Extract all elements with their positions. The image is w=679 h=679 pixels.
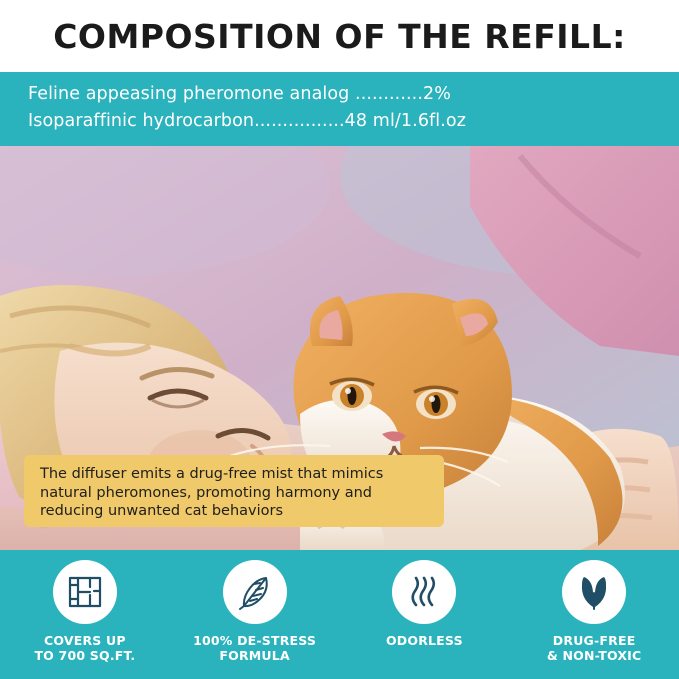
scent-waves-icon <box>405 573 443 611</box>
feature-destress: 100% DE-STRESS FORMULA <box>180 560 330 663</box>
caption-text: The diffuser emits a drug-free mist that… <box>40 465 428 521</box>
feature-coverage: COVERS UP TO 700 SQ.FT. <box>10 560 160 663</box>
feature-coverage-label-2: TO 700 SQ.FT. <box>34 648 135 663</box>
feature-coverage-label-1: COVERS UP <box>44 633 126 648</box>
product-infographic: COMPOSITION OF THE REFILL: Feline appeas… <box>0 0 679 679</box>
leaf-icon <box>575 573 613 611</box>
header-bar: COMPOSITION OF THE REFILL: <box>0 0 679 72</box>
feature-drugfree: DRUG-FREE & NON-TOXIC <box>519 560 669 663</box>
feature-odorless-label-1: ODORLESS <box>386 633 463 648</box>
feature-destress-label-2: FORMULA <box>219 648 289 663</box>
feather-icon <box>236 573 274 611</box>
feature-icon-circle <box>53 560 117 624</box>
feature-drugfree-label-1: DRUG-FREE <box>553 633 636 648</box>
feature-destress-label-1: 100% DE-STRESS <box>193 633 316 648</box>
composition-line-1: Feline appeasing pheromone analog ......… <box>28 81 679 108</box>
composition-line-2: Isoparaffinic hydrocarbon...............… <box>28 108 679 135</box>
caption-banner: The diffuser emits a drug-free mist that… <box>24 455 444 527</box>
feature-strip: COVERS UP TO 700 SQ.FT. 100% DE-STRESS F… <box>0 550 679 679</box>
feature-drugfree-label-2: & NON-TOXIC <box>547 648 642 663</box>
feature-icon-circle <box>392 560 456 624</box>
feature-icon-circle <box>562 560 626 624</box>
composition-band: Feline appeasing pheromone analog ......… <box>0 72 679 146</box>
feature-odorless: ODORLESS <box>349 560 499 648</box>
page-title: COMPOSITION OF THE REFILL: <box>53 17 626 56</box>
feature-icon-circle <box>223 560 287 624</box>
floorplan-icon <box>66 573 104 611</box>
